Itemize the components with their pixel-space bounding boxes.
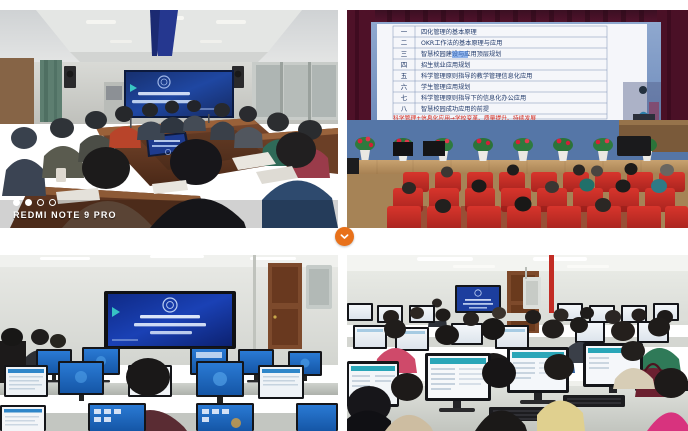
svg-text:八: 八 [401, 105, 408, 113]
photo-computer-lab-screen[interactable] [0, 255, 338, 431]
svg-text:七: 七 [401, 93, 408, 102]
computer-lab-attendees-scene [347, 255, 688, 431]
svg-text:智慧校园成功应用的前提: 智慧校园成功应用的前提 [421, 105, 489, 113]
svg-text:一: 一 [401, 28, 408, 36]
photo-auditorium-agenda[interactable]: 一 二 三 四 五 六 七 八 四化管理的基本原理 OKR工作法的基本原理与应用… [347, 10, 688, 228]
expand-gallery-button[interactable] [335, 227, 354, 246]
conference-room-scene [0, 10, 338, 228]
svg-text:科学管理原则指导的教学管理信息化应用: 科学管理原则指导的教学管理信息化应用 [421, 72, 532, 80]
svg-text:二: 二 [401, 39, 408, 47]
photo-gallery: REDMI NOTE 9 PRO [0, 0, 688, 431]
svg-text:三: 三 [401, 50, 408, 58]
auditorium-scene: 一 二 三 四 五 六 七 八 四化管理的基本原理 OKR工作法的基本原理与应用… [347, 10, 688, 228]
svg-text:四化管理的基本原理: 四化管理的基本原理 [421, 28, 477, 36]
svg-text:招生就业应用规划: 招生就业应用规划 [421, 61, 471, 69]
photo-conference-room[interactable]: REDMI NOTE 9 PRO [0, 10, 338, 228]
svg-text:六: 六 [401, 82, 408, 91]
svg-text:五: 五 [401, 72, 408, 80]
svg-text:四: 四 [401, 61, 408, 69]
svg-text:OKR工作法的基本原理与应用: OKR工作法的基本原理与应用 [421, 39, 502, 47]
svg-text:学生管理应用规划: 学生管理应用规划 [421, 83, 471, 91]
photo-computer-lab-attendees[interactable] [347, 255, 688, 431]
svg-text:科学管理原则指导下的信息化办公应用: 科学管理原则指导下的信息化办公应用 [421, 94, 526, 102]
computer-lab-screen-scene [0, 255, 338, 431]
chevron-down-icon [339, 231, 350, 242]
